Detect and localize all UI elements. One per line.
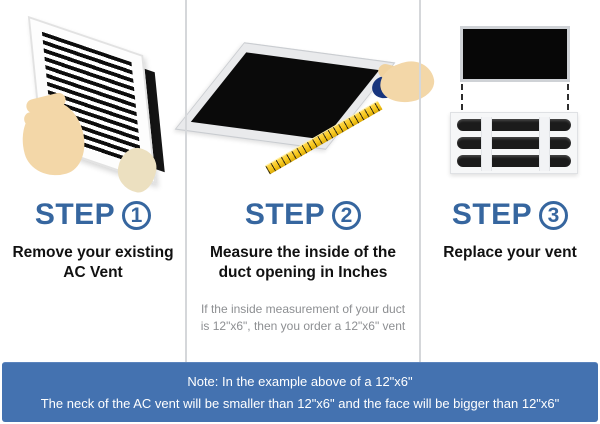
vent-replacement-scene: [442, 26, 582, 186]
step-2-heading: STEP 2: [186, 200, 420, 230]
step-1-heading: STEP 1: [0, 200, 186, 230]
note-line-2: The neck of the AC vent will be smaller …: [41, 393, 560, 414]
alignment-guide-line: [567, 84, 569, 110]
step-3-title: Replace your vent: [420, 243, 600, 263]
step-number-badge: 2: [332, 201, 361, 230]
vent-removal-scene: [22, 30, 172, 190]
vent-louvers: [457, 119, 571, 167]
alignment-guide-line: [461, 84, 463, 110]
step-1-illustration: [0, 0, 186, 200]
replacement-vent: [450, 112, 578, 174]
step-2-subtext: If the inside measurement of your duct i…: [186, 301, 420, 335]
step-label: STEP: [35, 200, 115, 230]
step-panel-3: STEP 3 Replace your vent: [420, 0, 600, 362]
duct-measuring-scene: [202, 42, 408, 182]
step-3-heading: STEP 3: [420, 200, 600, 230]
step-label: STEP: [452, 200, 532, 230]
finger-icon: [26, 123, 68, 137]
step-2-title: Measure the inside of the duct opening i…: [186, 243, 420, 284]
vent-slat: [457, 155, 571, 167]
step-panel-2: STEP 2 Measure the inside of the duct op…: [186, 0, 420, 362]
duct-frame: [175, 42, 396, 150]
vent-slat: [457, 119, 571, 131]
step-3-illustration: [420, 0, 600, 200]
infographic-root: STEP 1 Remove your existing AC Vent: [0, 0, 600, 424]
step-label: STEP: [245, 200, 325, 230]
vent-slat: [457, 137, 571, 149]
step-2-illustration: [186, 0, 420, 200]
vent-divider-post: [481, 117, 492, 171]
panel-divider-left: [185, 0, 187, 362]
step-number-badge: 3: [539, 201, 568, 230]
step-number-badge: 1: [122, 201, 151, 230]
note-line-1: Note: In the example above of a 12"x6": [187, 371, 412, 392]
step-panel-1: STEP 1 Remove your existing AC Vent: [0, 0, 186, 362]
vent-divider-post: [539, 117, 550, 171]
step-1-title: Remove your existing AC Vent: [0, 243, 186, 284]
note-banner: Note: In the example above of a 12"x6" T…: [2, 362, 598, 422]
steps-container: STEP 1 Remove your existing AC Vent: [0, 0, 600, 362]
panel-divider-right: [419, 0, 421, 362]
duct-opening-dark: [460, 26, 570, 82]
